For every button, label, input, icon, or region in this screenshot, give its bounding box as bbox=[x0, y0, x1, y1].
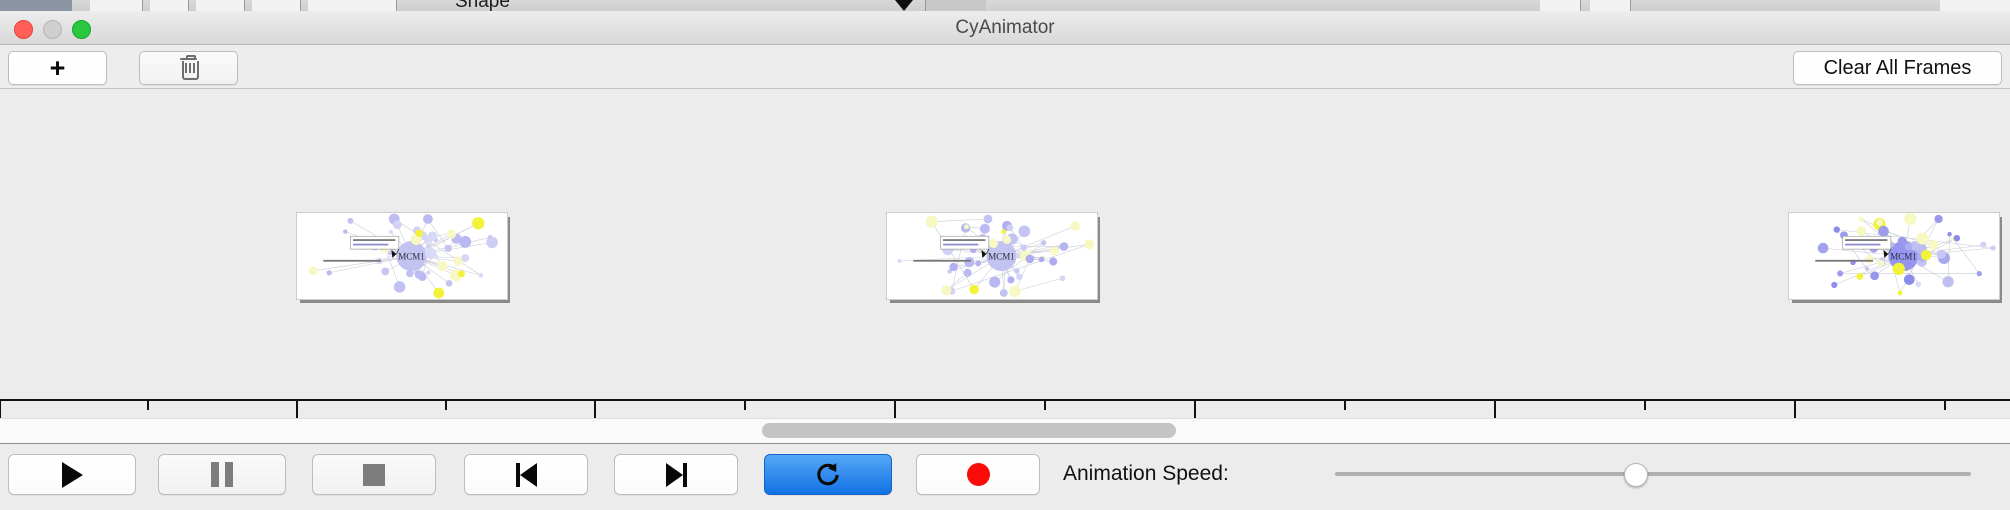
record-icon bbox=[967, 463, 990, 486]
add-frame-button[interactable]: + bbox=[8, 51, 107, 85]
plus-icon: + bbox=[50, 55, 66, 82]
background-tab bbox=[90, 0, 143, 11]
delete-frame-button[interactable] bbox=[139, 51, 238, 85]
stop-button bbox=[312, 454, 436, 495]
record-button[interactable] bbox=[916, 454, 1040, 495]
background-window-strip: Shape bbox=[0, 0, 2010, 11]
scrollbar-thumb[interactable] bbox=[762, 423, 1176, 438]
background-tab bbox=[1540, 0, 1581, 11]
background-caret-icon bbox=[895, 0, 913, 11]
window-title: CyAnimator bbox=[0, 11, 2010, 44]
animation-speed-slider[interactable] bbox=[1335, 454, 1971, 493]
timeline-ruler bbox=[0, 399, 2010, 401]
ruler-tick-major bbox=[1794, 401, 1796, 418]
background-tab bbox=[1940, 0, 2010, 11]
frame-network-thumbnail[interactable]: MCM1 bbox=[886, 212, 1098, 300]
playback-control-bar: Animation Speed: bbox=[0, 444, 2010, 510]
title-bar[interactable]: CyAnimator bbox=[0, 11, 2010, 45]
ruler-tick-minor bbox=[147, 401, 149, 410]
slider-thumb[interactable] bbox=[1624, 463, 1648, 487]
play-icon bbox=[62, 462, 83, 488]
ruler-tick-major bbox=[1494, 401, 1496, 418]
background-tab bbox=[196, 0, 245, 11]
background-box bbox=[925, 0, 986, 11]
cyanimator-window: Shape CyAnimator + Clear All Frames bbox=[0, 0, 2010, 510]
background-tab bbox=[1590, 0, 1631, 11]
svg-text:MCM1: MCM1 bbox=[398, 252, 425, 262]
ruler-tick-major bbox=[894, 401, 896, 418]
frame-thumbnail-1[interactable]: MCM1 bbox=[296, 212, 506, 298]
svg-text:MCM1: MCM1 bbox=[1890, 252, 1917, 262]
clear-all-frames-label: Clear All Frames bbox=[1824, 57, 1972, 80]
loop-button[interactable] bbox=[764, 454, 892, 495]
play-button[interactable] bbox=[8, 454, 136, 495]
background-tab bbox=[308, 0, 397, 11]
timeline-panel[interactable]: MCM1MCM1MCM1 12131415161718 Seconds bbox=[0, 89, 2010, 418]
stop-icon bbox=[363, 464, 385, 486]
ruler-tick-minor bbox=[1044, 401, 1046, 410]
ruler-tick-minor bbox=[744, 401, 746, 410]
pause-icon bbox=[211, 462, 233, 487]
ruler-tick-major bbox=[1194, 401, 1196, 418]
background-tab bbox=[150, 0, 189, 11]
frame-network-thumbnail[interactable]: MCM1 bbox=[1788, 212, 2000, 300]
frame-thumbnail-2[interactable]: MCM1 bbox=[886, 212, 1096, 298]
skip-to-end-button[interactable] bbox=[614, 454, 738, 495]
ruler-tick-minor bbox=[1344, 401, 1346, 410]
ruler-tick-minor bbox=[445, 401, 447, 410]
background-tab bbox=[252, 0, 301, 11]
ruler-tick-major bbox=[296, 401, 298, 418]
skip-previous-icon bbox=[516, 463, 537, 487]
background-window-label: Shape bbox=[455, 0, 510, 11]
ruler-tick-minor bbox=[1944, 401, 1946, 410]
loop-refresh-icon bbox=[813, 460, 843, 490]
animation-speed-label: Animation Speed: bbox=[1063, 454, 1229, 493]
skip-next-icon bbox=[666, 463, 687, 487]
skip-to-start-button[interactable] bbox=[464, 454, 588, 495]
slider-track[interactable] bbox=[1335, 472, 1971, 476]
toolbar: + Clear All Frames bbox=[0, 45, 2010, 89]
ruler-tick-major bbox=[594, 401, 596, 418]
frame-network-thumbnail[interactable]: MCM1 bbox=[296, 212, 508, 300]
svg-text:MCM1: MCM1 bbox=[988, 252, 1015, 262]
trash-icon bbox=[180, 58, 197, 79]
pause-button bbox=[158, 454, 286, 495]
timeline-scrollbar[interactable] bbox=[0, 418, 2010, 445]
ruler-tick-major bbox=[0, 401, 1, 418]
ruler-tick-minor bbox=[1644, 401, 1646, 410]
frame-thumbnail-3[interactable]: MCM1 bbox=[1788, 212, 1998, 298]
background-window-sidebar bbox=[0, 0, 72, 11]
clear-all-frames-button[interactable]: Clear All Frames bbox=[1793, 51, 2002, 85]
